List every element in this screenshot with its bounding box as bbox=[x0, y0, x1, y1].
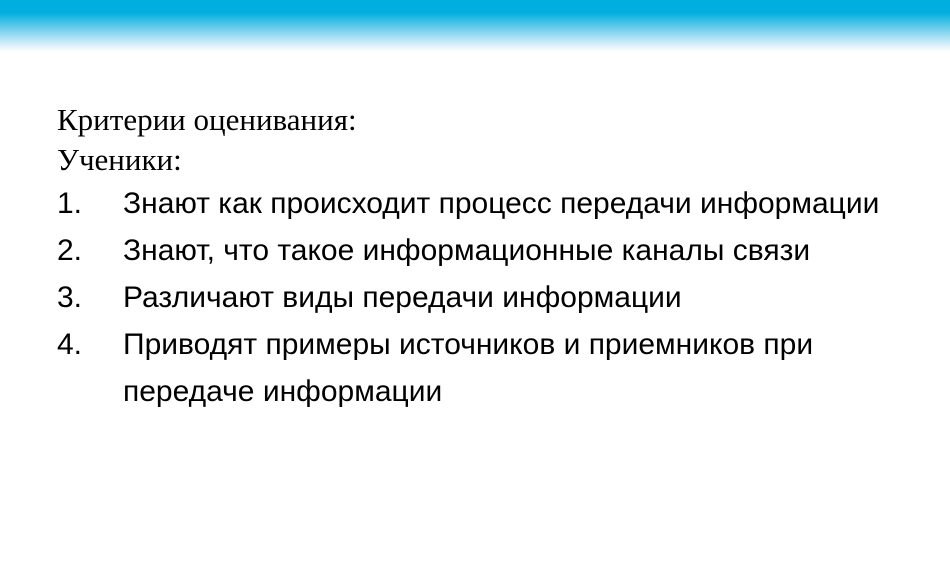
list-item-number: 1. bbox=[57, 180, 82, 227]
list-item: 1. Знают как происходит процесс передачи… bbox=[57, 180, 917, 227]
slide-canvas: Критерии оценивания: Ученики: 1. Знают к… bbox=[0, 0, 950, 581]
list-item: 4. Приводят примеры источников и приемни… bbox=[57, 321, 917, 415]
list-item-label: Приводят примеры источников и приемников… bbox=[123, 321, 917, 415]
subtitle: Ученики: bbox=[57, 140, 917, 180]
list-item: 3. Различают виды передачи информации bbox=[57, 274, 917, 321]
list-item-label: Различают виды передачи информации bbox=[123, 274, 917, 321]
top-gradient-band bbox=[0, 0, 950, 52]
criteria-list: 1. Знают как происходит процесс передачи… bbox=[57, 180, 917, 415]
list-item-label: Знают, что такое информационные каналы с… bbox=[123, 227, 917, 274]
slide-content: Критерии оценивания: Ученики: 1. Знают к… bbox=[57, 100, 917, 415]
list-item-label: Знают как происходит процесс передачи ин… bbox=[123, 180, 917, 227]
page-title: Критерии оценивания: bbox=[57, 100, 917, 140]
list-item: 2. Знают, что такое информационные канал… bbox=[57, 227, 917, 274]
list-item-number: 2. bbox=[57, 227, 82, 274]
list-item-number: 3. bbox=[57, 274, 82, 321]
list-item-number: 4. bbox=[57, 321, 82, 368]
